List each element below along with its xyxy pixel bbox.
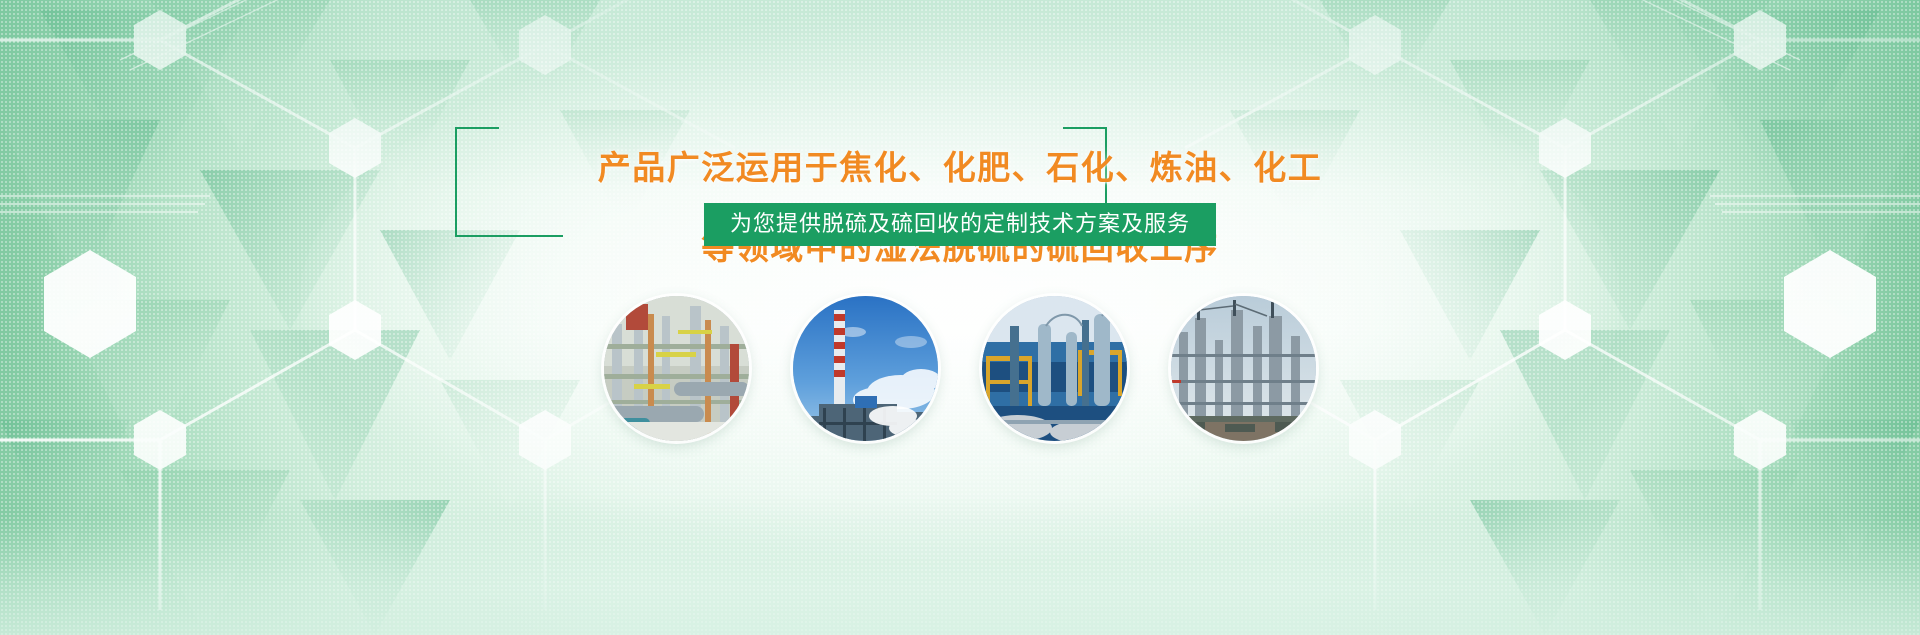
photo-piping-plant [604,296,749,441]
subheadline-banner: 为您提供脱硫及硫回收的定制技术方案及服务 [704,203,1216,246]
bottom-fade-overlay [0,515,1920,635]
photo-chimney-stack [793,296,938,441]
photo-process-unit [982,296,1127,441]
headline-line-1: 产品广泛运用于焦化、化肥、石化、炼油、化工 [0,148,1920,188]
promo-banner: 产品广泛运用于焦化、化肥、石化、炼油、化工 等领域中的湿法脱硫的硫回收工序 为您… [0,0,1920,635]
photo-refinery-towers [1171,296,1316,441]
photo-strip [0,296,1920,441]
